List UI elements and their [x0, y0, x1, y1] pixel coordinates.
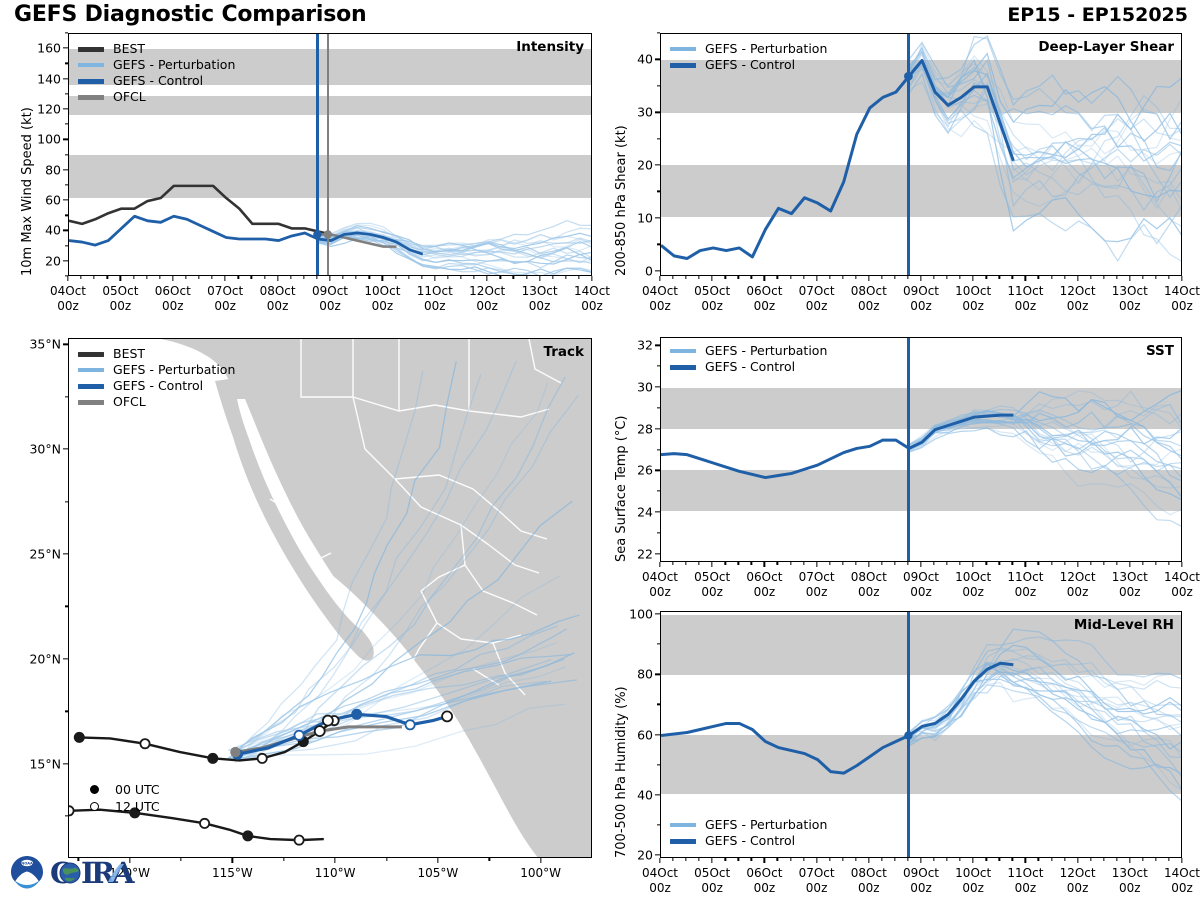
x-tick-mark-minor: [933, 858, 934, 861]
x-tick-mark-minor: [1064, 562, 1065, 565]
x-tick-mark: [659, 276, 660, 281]
x-tick-mark-minor: [881, 858, 882, 861]
y-tick-mark: [655, 613, 660, 614]
x-tick-mark-minor: [1168, 276, 1169, 279]
rh-legend: GEFS - Perturbation GEFS - Control: [670, 817, 827, 849]
y-tick-mark-minor: [65, 63, 68, 64]
x-tick-mark-minor: [672, 858, 673, 861]
y-tick-mark-minor: [657, 643, 660, 644]
sst-legend-swatch-control: [670, 365, 696, 370]
y-tick-label: 160: [37, 41, 61, 56]
panel-sst: SST GEFS - Perturbation GEFS - Control S…: [660, 337, 1182, 562]
track-y-tick-mark-minor: [65, 396, 68, 397]
marker-dot-filled-icon: [90, 785, 99, 794]
legend-label-control: GEFS - Control: [113, 75, 203, 88]
x-tick-mark-minor: [1116, 276, 1117, 279]
x-tick-mark-minor: [777, 562, 778, 565]
x-tick-mark: [973, 562, 974, 567]
track-x-tick-mark-minor: [180, 858, 181, 861]
sst-legend-label-perturbation: GEFS - Perturbation: [705, 345, 827, 358]
track-y-tick-label: 15°N: [29, 756, 61, 771]
y-tick-mark: [655, 674, 660, 675]
x-tick-mark-minor: [264, 276, 265, 279]
ensemble-member: [909, 400, 1182, 457]
x-tick-mark: [1077, 562, 1078, 567]
ensemble-track: [228, 377, 565, 758]
track-y-tick-mark: [63, 448, 68, 449]
x-tick-mark: [1181, 858, 1182, 863]
x-tick-label: 05Oct00z: [102, 284, 138, 314]
shear-plot-area[interactable]: Deep-Layer Shear GEFS - Perturbation GEF…: [660, 33, 1182, 276]
ensemble-track: [227, 361, 456, 759]
x-tick-mark-minor: [698, 858, 699, 861]
x-tick-mark-minor: [447, 276, 448, 279]
y-tick-label: 100: [629, 607, 653, 622]
x-tick-mark: [277, 276, 278, 281]
x-tick-mark: [67, 276, 68, 281]
x-tick-label: 04Oct00z: [642, 284, 678, 314]
track-y-tick-mark-minor: [65, 606, 68, 607]
track-x-tick-mark: [437, 858, 438, 863]
x-tick-mark-minor: [698, 562, 699, 565]
y-tick-label: 22: [637, 546, 653, 561]
cira-logo-icon: C I R A: [50, 856, 135, 890]
track-y-tick-mark: [63, 658, 68, 659]
x-tick-mark-minor: [894, 562, 895, 565]
x-tick-mark-minor: [894, 276, 895, 279]
x-tick-mark: [1129, 562, 1130, 567]
y-tick-mark-minor: [65, 32, 68, 33]
x-tick-label: 05Oct00z: [694, 570, 730, 600]
track-time-marker: [258, 754, 267, 763]
y-tick-mark-minor: [657, 138, 660, 139]
y-tick-label: 20: [637, 158, 653, 173]
x-tick-label: 10Oct00z: [955, 284, 991, 314]
x-tick-mark-minor: [1038, 562, 1039, 565]
intensity-legend: BEST GEFS - Perturbation GEFS - Control …: [78, 41, 235, 105]
x-tick-mark-minor: [133, 276, 134, 279]
rh-legend-label-control: GEFS - Control: [705, 835, 795, 848]
x-tick-mark-minor: [1155, 858, 1156, 861]
x-tick-label: 04Oct00z: [50, 284, 86, 314]
x-tick-mark-minor: [500, 276, 501, 279]
x-tick-label: 05Oct00z: [694, 866, 730, 896]
marker-legend-row-12utc: 12 UTC: [83, 798, 160, 815]
y-tick-mark: [655, 854, 660, 855]
track-y-tick-mark: [63, 553, 68, 554]
x-tick-mark-minor: [986, 858, 987, 861]
y-tick-label: 40: [637, 52, 653, 67]
track-time-marker: [140, 739, 149, 748]
x-tick-mark-minor: [1090, 276, 1091, 279]
x-tick-mark-minor: [1103, 562, 1104, 565]
x-tick-mark-minor: [829, 562, 830, 565]
y-tick-mark: [655, 59, 660, 60]
x-tick-mark-minor: [986, 276, 987, 279]
x-tick-mark-minor: [803, 562, 804, 565]
x-tick-label: 14Oct00z: [574, 284, 610, 314]
x-tick-mark-minor: [1012, 562, 1013, 565]
legend-label-ofcl: OFCL: [113, 91, 146, 104]
legend-item-perturbation: GEFS - Perturbation: [78, 57, 235, 73]
intensity-panel-label: Intensity: [516, 39, 584, 55]
x-tick-mark-minor: [1038, 858, 1039, 861]
y-tick-label: 40: [45, 223, 61, 238]
shear-legend-swatch-control: [670, 63, 696, 68]
legend-swatch-best: [78, 47, 104, 52]
x-tick-mark-minor: [80, 276, 81, 279]
y-tick-mark-minor: [657, 244, 660, 245]
x-tick-mark: [225, 276, 226, 281]
track-legend-label-best: BEST: [113, 348, 145, 361]
x-tick-mark: [382, 276, 383, 281]
x-tick-mark-minor: [421, 276, 422, 279]
x-tick-mark: [172, 276, 173, 281]
y-tick-mark: [655, 511, 660, 512]
x-tick-mark: [816, 562, 817, 567]
x-tick-mark-minor: [185, 276, 186, 279]
rh-legend-swatch-control: [670, 839, 696, 844]
y-tick-mark-minor: [65, 215, 68, 216]
x-tick-mark: [973, 858, 974, 863]
track-y-tick-mark-minor: [65, 711, 68, 712]
panel-shear: Deep-Layer Shear GEFS - Perturbation GEF…: [660, 33, 1182, 276]
x-tick-mark-minor: [999, 276, 1000, 279]
storm-id-label: EP15 - EP152025: [1007, 4, 1188, 26]
x-tick-label: 08Oct00z: [851, 866, 887, 896]
y-tick-mark-minor: [657, 32, 660, 33]
x-tick-mark-minor: [316, 276, 317, 279]
y-tick-mark: [63, 199, 68, 200]
y-tick-mark-minor: [65, 184, 68, 185]
x-tick-mark-minor: [986, 562, 987, 565]
y-tick-mark: [655, 428, 660, 429]
marker-dot-hollow-icon: [90, 802, 99, 811]
track-legend-swatch-ofcl: [78, 400, 104, 405]
x-tick-mark-minor: [211, 276, 212, 279]
x-tick-mark-minor: [146, 276, 147, 279]
x-tick-mark: [973, 276, 974, 281]
x-tick-label: 07Oct00z: [799, 284, 835, 314]
y-tick-mark: [655, 794, 660, 795]
track-x-tick-mark: [334, 858, 335, 863]
x-tick-label: 06Oct00z: [746, 866, 782, 896]
x-tick-mark-minor: [725, 858, 726, 861]
marker-legend-row-00utc: 00 UTC: [83, 781, 160, 798]
x-tick-mark-minor: [946, 562, 947, 565]
x-tick-mark-minor: [907, 276, 908, 279]
y-tick-mark: [63, 48, 68, 49]
x-tick-label: 11Oct00z: [417, 284, 453, 314]
track-time-marker: [69, 806, 74, 815]
y-tick-mark: [63, 78, 68, 79]
track-y-tick-label: 30°N: [29, 442, 61, 457]
x-tick-mark-minor: [685, 562, 686, 565]
sst-legend-item-control: GEFS - Control: [670, 359, 827, 375]
x-tick-mark-minor: [672, 562, 673, 565]
sst-legend-swatch-perturbation: [670, 349, 696, 353]
x-tick-mark-minor: [356, 276, 357, 279]
track-x-tick-label: 100°W: [520, 866, 561, 881]
x-tick-mark-minor: [1103, 858, 1104, 861]
y-tick-label: 26: [637, 463, 653, 478]
shear-legend-swatch-perturbation: [670, 47, 696, 51]
track-x-tick-label: 115°W: [212, 866, 253, 881]
track-time-marker: [75, 733, 84, 742]
x-tick-mark-minor: [842, 562, 843, 565]
y-tick-mark-minor: [657, 191, 660, 192]
x-tick-label: 14Oct00z: [1164, 284, 1200, 314]
x-tick-mark-minor: [907, 562, 908, 565]
sst-panel-label: SST: [1146, 343, 1174, 359]
x-tick-mark-minor: [1116, 562, 1117, 565]
x-tick-mark-minor: [1051, 276, 1052, 279]
track-plot-area[interactable]: Track BEST GEFS - Perturbation GEFS - Co…: [68, 338, 592, 858]
track-y-tick-mark: [63, 763, 68, 764]
y-tick-label: 80: [637, 667, 653, 682]
x-tick-mark-minor: [672, 276, 673, 279]
track-x-tick-mark-minor: [489, 858, 490, 861]
x-tick-label: 05Oct00z: [694, 284, 730, 314]
x-tick-mark-minor: [790, 562, 791, 565]
track-legend-label-control: GEFS - Control: [113, 380, 203, 393]
x-tick-label: 12Oct00z: [1060, 284, 1096, 314]
rh-legend-label-perturbation: GEFS - Perturbation: [705, 819, 827, 832]
track-time-marker: [200, 819, 209, 828]
x-tick-mark-minor: [803, 858, 804, 861]
rh-plot-area[interactable]: Mid-Level RH GEFS - Perturbation GEFS - …: [660, 611, 1182, 858]
x-tick-mark: [816, 276, 817, 281]
page-title: GEFS Diagnostic Comparison: [14, 2, 366, 27]
x-tick-mark: [591, 276, 592, 281]
legend-swatch-control: [78, 79, 104, 84]
y-tick-mark: [655, 112, 660, 113]
y-tick-label: 30: [637, 380, 653, 395]
track-time-marker: [295, 836, 304, 845]
panel-intensity: Intensity BEST GEFS - Perturbation GEFS …: [68, 33, 592, 276]
x-tick-label: 07Oct00z: [799, 866, 835, 896]
x-tick-mark-minor: [881, 276, 882, 279]
x-tick-label: 13Oct00z: [522, 284, 558, 314]
y-tick-label: 30: [637, 105, 653, 120]
x-tick-mark-minor: [803, 276, 804, 279]
x-tick-mark-minor: [1064, 858, 1065, 861]
x-tick-label: 07Oct00z: [207, 284, 243, 314]
sst-plot-area[interactable]: SST GEFS - Perturbation GEFS - Control: [660, 337, 1182, 562]
x-tick-label: 08Oct00z: [851, 284, 887, 314]
shear-y-axis-label: 200-850 hPa Shear (kt): [614, 125, 629, 276]
x-tick-label: 11Oct00z: [1007, 570, 1043, 600]
x-tick-mark: [868, 858, 869, 863]
shear-legend-item-control: GEFS - Control: [670, 57, 827, 73]
x-tick-label: 07Oct00z: [799, 570, 835, 600]
x-tick-mark-minor: [829, 276, 830, 279]
track-time-marker: [295, 731, 304, 740]
legend-label-best: BEST: [113, 43, 145, 56]
shear-legend-item-perturbation: GEFS - Perturbation: [670, 41, 827, 57]
intensity-plot-area[interactable]: Intensity BEST GEFS - Perturbation GEFS …: [68, 33, 592, 276]
x-tick-label: 13Oct00z: [1112, 866, 1148, 896]
x-tick-mark: [816, 858, 817, 863]
y-tick-mark: [655, 217, 660, 218]
y-tick-mark: [655, 345, 660, 346]
x-tick-mark-minor: [777, 858, 778, 861]
y-tick-mark-minor: [65, 93, 68, 94]
sst-legend: GEFS - Perturbation GEFS - Control: [670, 343, 827, 375]
track-legend-swatch-best: [78, 352, 104, 357]
x-tick-mark: [712, 276, 713, 281]
x-tick-mark: [487, 276, 488, 281]
ensemble-track: [240, 395, 579, 756]
y-tick-mark: [655, 734, 660, 735]
x-tick-mark: [539, 276, 540, 281]
x-tick-mark-minor: [238, 276, 239, 279]
x-tick-mark: [920, 562, 921, 567]
y-tick-mark: [63, 108, 68, 109]
x-tick-label: 13Oct00z: [1112, 284, 1148, 314]
y-tick-label: 20: [45, 253, 61, 268]
y-tick-mark: [655, 470, 660, 471]
x-tick-mark-minor: [1012, 276, 1013, 279]
x-tick-mark-minor: [959, 276, 960, 279]
y-tick-mark-minor: [657, 824, 660, 825]
y-tick-label: 140: [37, 71, 61, 86]
x-tick-mark: [1181, 276, 1182, 281]
x-tick-label: 11Oct00z: [1007, 284, 1043, 314]
x-tick-mark-minor: [855, 276, 856, 279]
noaa-logo-icon: NOAA: [11, 856, 43, 889]
y-tick-mark-minor: [65, 123, 68, 124]
x-tick-mark-minor: [751, 562, 752, 565]
x-tick-label: 06Oct00z: [746, 570, 782, 600]
x-tick-mark-minor: [303, 276, 304, 279]
x-tick-mark-minor: [1155, 562, 1156, 565]
x-tick-mark-minor: [685, 858, 686, 861]
x-tick-label: 13Oct00z: [1112, 570, 1148, 600]
x-tick-mark-minor: [513, 276, 514, 279]
legend-item-best: BEST: [78, 41, 235, 57]
track-x-tick-label: 105°W: [417, 866, 458, 881]
x-tick-mark-minor: [395, 276, 396, 279]
x-tick-label: 04Oct00z: [642, 570, 678, 600]
track-legend-swatch-control: [78, 384, 104, 389]
track-ofcl-start-marker: [230, 747, 240, 757]
shear-legend-label-perturbation: GEFS - Perturbation: [705, 43, 827, 56]
x-tick-mark-minor: [738, 276, 739, 279]
x-tick-mark-minor: [751, 858, 752, 861]
agency-logos: NOAA C I R A: [8, 852, 158, 896]
x-tick-mark-minor: [855, 858, 856, 861]
x-tick-mark-minor: [999, 562, 1000, 565]
x-tick-mark-minor: [198, 276, 199, 279]
shear-legend: GEFS - Perturbation GEFS - Control: [670, 41, 827, 73]
y-tick-label: 100: [37, 132, 61, 147]
track-y-tick-label: 35°N: [29, 337, 61, 352]
track-legend: BEST GEFS - Perturbation GEFS - Control …: [78, 346, 235, 410]
rh-legend-item-control: GEFS - Control: [670, 833, 827, 849]
noaa-cira-logo: NOAA C I R A: [8, 852, 158, 892]
panel-track: Track BEST GEFS - Perturbation GEFS - Co…: [68, 338, 592, 858]
track-legend-label-ofcl: OFCL: [113, 396, 146, 409]
x-tick-label: 12Oct00z: [1060, 570, 1096, 600]
x-tick-mark-minor: [342, 276, 343, 279]
x-tick-mark-minor: [159, 276, 160, 279]
x-tick-mark-minor: [1155, 276, 1156, 279]
ensemble-member: [909, 51, 1182, 141]
legend-label-perturbation: GEFS - Perturbation: [113, 59, 235, 72]
x-tick-mark: [1077, 276, 1078, 281]
x-tick-mark-minor: [1116, 858, 1117, 861]
y-tick-mark-minor: [657, 764, 660, 765]
x-tick-mark-minor: [959, 562, 960, 565]
x-tick-mark-minor: [369, 276, 370, 279]
y-tick-label: 28: [637, 421, 653, 436]
x-tick-mark-minor: [842, 858, 843, 861]
x-tick-mark: [659, 858, 660, 863]
track-time-marker: [352, 710, 361, 719]
track-time-marker: [406, 720, 415, 729]
x-tick-mark-minor: [933, 562, 934, 565]
x-tick-label: 06Oct00z: [155, 284, 191, 314]
x-tick-mark: [1129, 276, 1130, 281]
legend-item-ofcl: OFCL: [78, 89, 235, 105]
x-tick-mark-minor: [933, 276, 934, 279]
x-tick-mark: [868, 276, 869, 281]
x-tick-label: 10Oct00z: [955, 570, 991, 600]
y-tick-mark-minor: [657, 366, 660, 367]
x-tick-mark-minor: [526, 276, 527, 279]
rh-y-axis-label: 700-500 hPa Humidity (%): [614, 686, 629, 858]
x-tick-mark-minor: [1051, 858, 1052, 861]
rh-legend-item-perturbation: GEFS - Perturbation: [670, 817, 827, 833]
track-y-tick-mark-minor: [65, 501, 68, 502]
sst-legend-label-control: GEFS - Control: [705, 361, 795, 374]
x-tick-mark-minor: [907, 858, 908, 861]
x-tick-mark-minor: [777, 276, 778, 279]
x-tick-label: 04Oct00z: [642, 866, 678, 896]
y-tick-mark: [63, 169, 68, 170]
x-tick-mark-minor: [881, 562, 882, 565]
x-tick-label: 06Oct00z: [746, 284, 782, 314]
x-tick-label: 10Oct00z: [364, 284, 400, 314]
y-tick-mark-minor: [65, 245, 68, 246]
track-time-marker: [442, 711, 452, 721]
x-tick-mark-minor: [1142, 858, 1143, 861]
x-tick-label: 11Oct00z: [1007, 866, 1043, 896]
x-tick-mark-minor: [1142, 276, 1143, 279]
x-tick-mark: [1025, 276, 1026, 281]
shear-panel-label: Deep-Layer Shear: [1038, 39, 1174, 55]
legend-swatch-ofcl: [78, 95, 104, 100]
x-tick-mark-minor: [894, 858, 895, 861]
track-x-tick-mark: [232, 858, 233, 863]
x-tick-label: 09Oct00z: [903, 570, 939, 600]
x-tick-mark-minor: [999, 858, 1000, 861]
track-marker-legend: 00 UTC 12 UTC: [83, 781, 160, 815]
x-tick-mark-minor: [1090, 858, 1091, 861]
track-x-tick-label: 110°W: [315, 866, 356, 881]
x-tick-mark-minor: [790, 858, 791, 861]
marker-legend-label-00utc: 00 UTC: [115, 782, 160, 797]
track-legend-item-best: BEST: [78, 346, 235, 362]
track-legend-item-control: GEFS - Control: [78, 378, 235, 394]
y-tick-mark-minor: [657, 491, 660, 492]
x-tick-mark: [868, 562, 869, 567]
x-tick-mark-minor: [738, 562, 739, 565]
x-tick-label: 12Oct00z: [469, 284, 505, 314]
track-time-marker: [243, 831, 252, 840]
intensity-init-time-line: [316, 34, 319, 275]
